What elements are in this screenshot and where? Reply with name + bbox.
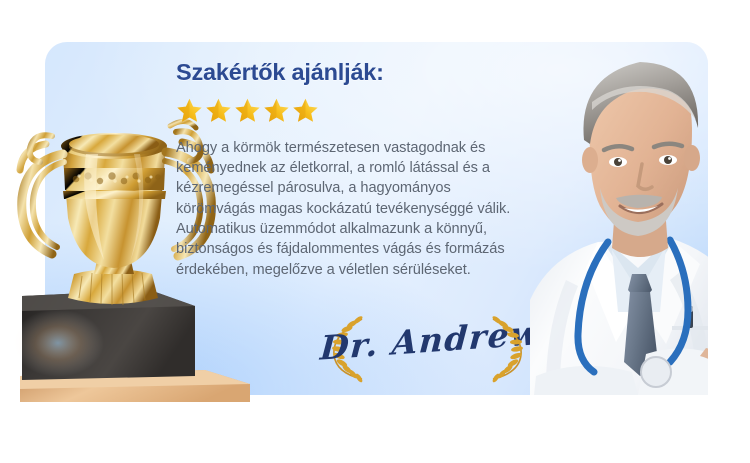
star-icon (292, 97, 319, 124)
star-rating (176, 97, 526, 124)
star-icon (263, 97, 290, 124)
testimonial-text-column: Szakértők ajánlják: (176, 60, 526, 280)
card-right-mask (708, 42, 750, 395)
star-icon (205, 97, 232, 124)
stethoscope-chestpiece-icon (641, 357, 671, 387)
testimonial-body: Ahogy a körmök természetesen vastagodnak… (176, 138, 526, 280)
trophy-bowl (61, 133, 167, 268)
testimonial-banner: Szakértők ajánlják: (0, 0, 750, 463)
doctor-head (582, 62, 700, 236)
star-icon (234, 97, 261, 124)
doctor-signature: Dr. Andrew (320, 313, 535, 385)
page-title: Szakértők ajánlják: (176, 60, 526, 86)
star-icon (176, 97, 203, 124)
